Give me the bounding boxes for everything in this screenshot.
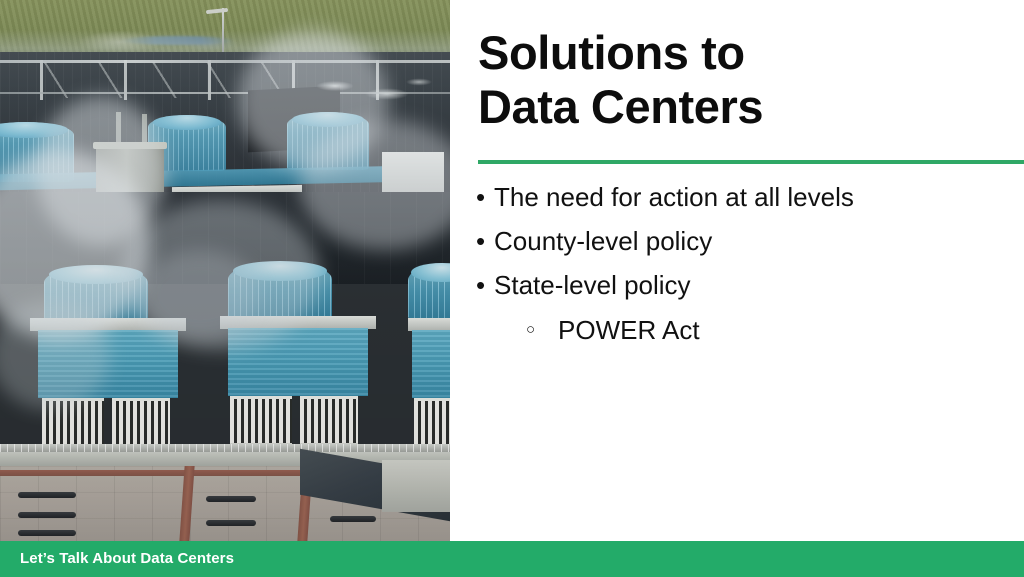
cooling-plant-photo [0,0,450,541]
list-item: • County-level policy [476,224,1016,259]
slide-content: Solutions to Data Centers • The need for… [450,0,1024,541]
title-underline-rule [478,160,1024,164]
list-item: • The need for action at all levels [476,180,1016,215]
slide: Solutions to Data Centers • The need for… [0,0,1024,577]
sub-bullet-text: POWER Act [558,312,700,348]
bullet-text: State-level policy [494,268,691,303]
bullet-list: • The need for action at all levels • Co… [476,180,1016,348]
list-item: • State-level policy [476,268,1016,303]
hollow-circle-bullet-icon: ○ [526,312,558,348]
footer-bar: Let’s Talk About Data Centers [0,541,1024,577]
bullet-point-icon: • [476,268,494,303]
sub-list-item: ○ POWER Act [526,312,1016,348]
slide-title: Solutions to Data Centers [478,26,1006,133]
bullet-text: County-level policy [494,224,712,259]
bullet-text: The need for action at all levels [494,180,854,215]
photo-tint-overlay [0,0,450,541]
bullet-point-icon: • [476,180,494,215]
bullet-point-icon: • [476,224,494,259]
footer-title: Let’s Talk About Data Centers [20,550,234,567]
